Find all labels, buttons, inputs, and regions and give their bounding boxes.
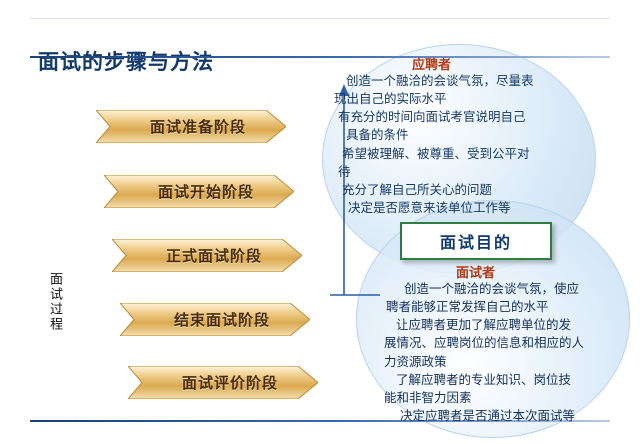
- center-purpose-box[interactable]: 面试目的: [400, 222, 552, 260]
- process-axis-label: 面试过程: [46, 272, 65, 332]
- applicant-line-4: 具备的条件: [346, 126, 594, 144]
- step-2[interactable]: 面试开始阶段: [104, 175, 294, 208]
- title-divider: [30, 56, 610, 58]
- interviewer-line-8: 决定应聘者是否通过本次面试等: [400, 407, 640, 425]
- interviewer-heading: 面试者: [456, 262, 495, 281]
- interviewer-line-1: 创造一个融洽的会谈气氛，使应: [404, 280, 640, 298]
- interviewer-line-6: 了解应聘者的专业知识、岗位技: [396, 371, 640, 389]
- step-4[interactable]: 结束面试阶段: [120, 303, 310, 336]
- interviewer-line-3: 让应聘者更加了解应聘单位的发: [396, 316, 640, 334]
- applicant-line-2: 现出自己的实际水平: [334, 90, 594, 108]
- step-3[interactable]: 正式面试阶段: [112, 239, 302, 272]
- title-bar: 面试的步骤与方法: [0, 22, 640, 58]
- applicant-line-5: 希望被理解、被尊重、受到公平对: [342, 145, 594, 163]
- title-top-divider: [30, 18, 610, 19]
- applicant-line-1: 创造一个融洽的会谈气氛，尽量表: [346, 72, 594, 90]
- interviewer-line-2: 聘者能够正常发挥自己的水平: [386, 298, 640, 316]
- step-5[interactable]: 面试评价阶段: [128, 366, 318, 399]
- applicant-line-3: 有充分的时间向面试考官说明自己: [338, 108, 594, 126]
- applicant-text: 创造一个融洽的会谈气氛，尽量表 现出自己的实际水平 有充分的时间向面试考官说明自…: [346, 72, 594, 217]
- step-1[interactable]: 面试准备阶段: [96, 110, 286, 143]
- slide-canvas: 面试的步骤与方法 面试过程: [0, 0, 640, 444]
- step-5-label: 面试评价阶段: [128, 366, 318, 399]
- interviewer-line-4: 展情况、应聘岗位的信息和相应的人: [384, 334, 640, 352]
- interviewer-line-5: 力资源政策: [384, 353, 640, 371]
- interviewer-text: 创造一个融洽的会谈气氛，使应 聘者能够正常发挥自己的水平 让应聘者更加了解应聘单…: [386, 280, 640, 425]
- applicant-heading: 应聘者: [412, 54, 451, 73]
- applicant-line-8: 决定是否愿意来该单位工作等: [348, 199, 594, 217]
- applicant-line-6: 待: [338, 163, 594, 181]
- step-4-label: 结束面试阶段: [120, 303, 310, 336]
- interviewer-line-7: 能和非智力因素: [384, 389, 640, 407]
- page-title: 面试的步骤与方法: [38, 46, 214, 76]
- applicant-line-7: 充分了解自己所关心的问题: [342, 181, 594, 199]
- step-1-label: 面试准备阶段: [96, 110, 286, 143]
- step-3-label: 正式面试阶段: [112, 239, 302, 272]
- step-2-label: 面试开始阶段: [104, 175, 294, 208]
